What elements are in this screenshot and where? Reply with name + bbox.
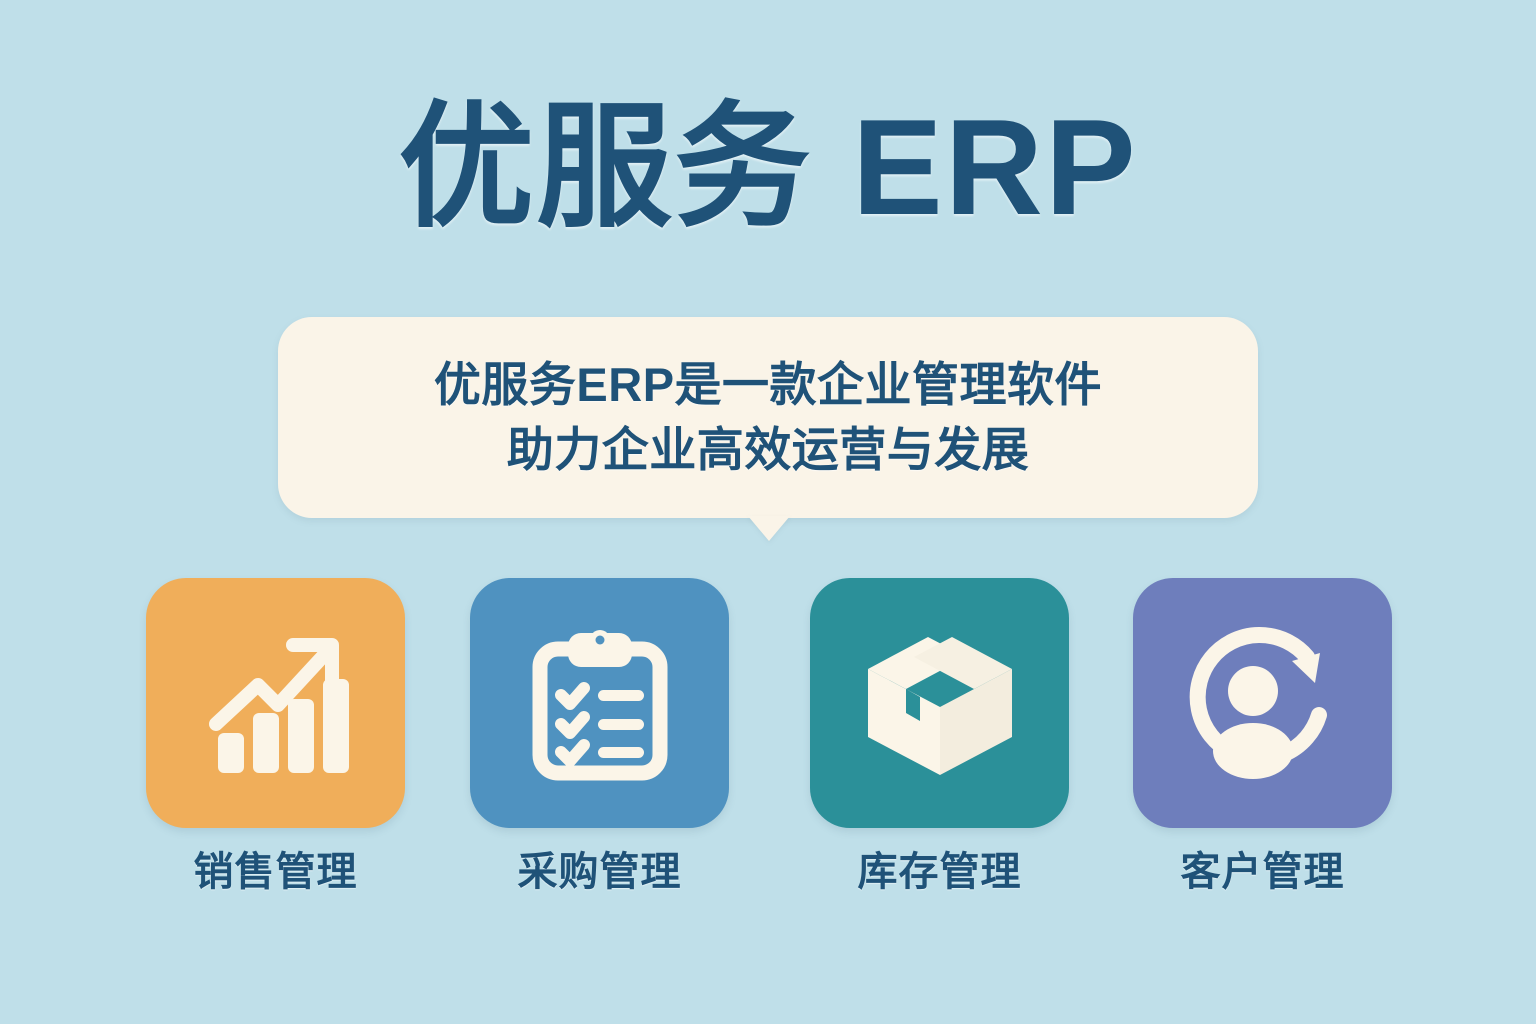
feature-card-sales[interactable]: 销售管理 (146, 578, 405, 894)
feature-label-purchasing: 采购管理 (470, 850, 729, 894)
feature-tile-customer[interactable] (1133, 578, 1392, 828)
feature-card-row: 销售管理 (146, 578, 1395, 908)
feature-label-sales: 销售管理 (146, 850, 405, 894)
feature-card-purchasing[interactable]: 采购管理 (470, 578, 729, 894)
speech-bubble-tail (748, 516, 790, 541)
tagline-line-2: 助力企业高效运营与发展 (507, 424, 1030, 477)
package-box-icon (856, 623, 1024, 783)
feature-tile-sales[interactable] (146, 578, 405, 828)
customer-refresh-icon (1179, 623, 1347, 783)
feature-label-customer: 客户管理 (1133, 850, 1392, 894)
tagline-text-block: 优服务ERP是一款企业管理软件 助力企业高效运营与发展 (278, 317, 1258, 518)
feature-label-inventory: 库存管理 (810, 850, 1069, 894)
tagline-line-1: 优服务ERP是一款企业管理软件 (434, 359, 1102, 412)
feature-tile-inventory[interactable] (810, 578, 1069, 828)
tagline-speech-bubble: 优服务ERP是一款企业管理软件 助力企业高效运营与发展 (278, 317, 1258, 518)
page-title: 优服务 ERP (0, 96, 1536, 239)
clipboard-checklist-icon (520, 623, 680, 783)
bar-chart-growth-icon (196, 623, 356, 783)
feature-tile-purchasing[interactable] (470, 578, 729, 828)
feature-card-customer[interactable]: 客户管理 (1133, 578, 1392, 894)
feature-card-inventory[interactable]: 库存管理 (810, 578, 1069, 894)
erp-promo-poster: 优服务 ERP 优服务ERP是一款企业管理软件 助力企业高效运营与发展 (0, 0, 1536, 1024)
